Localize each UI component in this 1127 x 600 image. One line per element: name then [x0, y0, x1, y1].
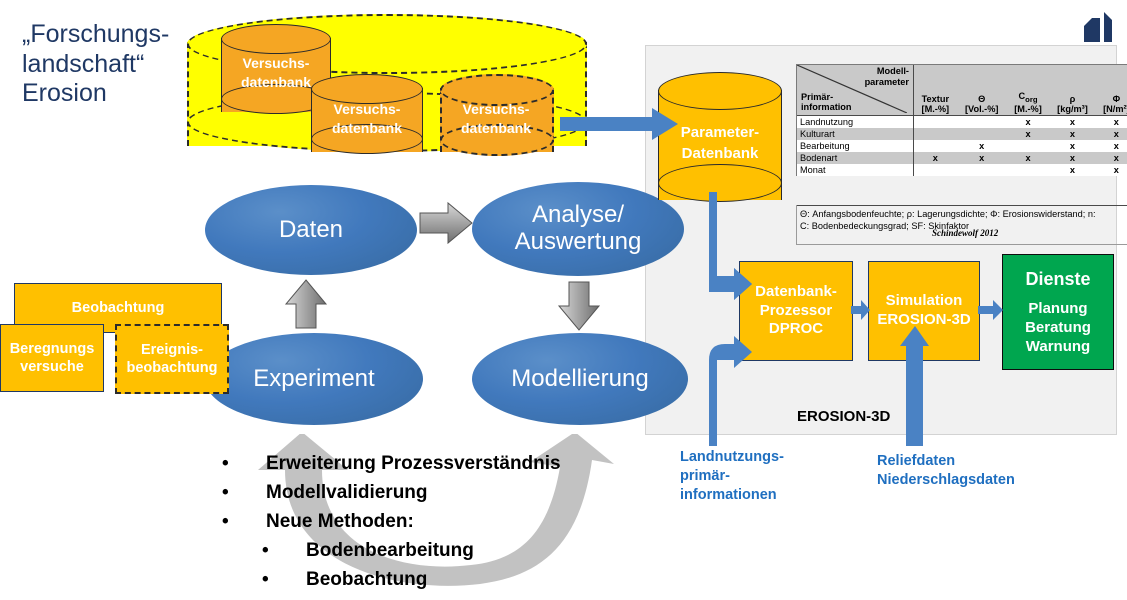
cell-landnutzung-phi: x [1096, 116, 1127, 129]
bullet-marker: • [284, 566, 306, 595]
cell-monat-rho: x [1049, 164, 1095, 176]
arrow-landnutzung-to-dproc [700, 316, 760, 446]
bullet-item: •Neue Methoden: [232, 508, 652, 537]
bullet-list: •Erweiterung Prozessverständnis •Modellv… [232, 450, 652, 594]
dienste-line-3: Warnung [1026, 338, 1090, 357]
table-footnote-line-1: Θ: Anfangsbodenfeuchte; ρ: Lagerungsdich… [800, 208, 1127, 220]
table-bottom-border [796, 244, 1127, 245]
bullet-text: Beobachtung [306, 569, 427, 590]
cell-kulturart-textur [914, 128, 957, 140]
versuchsdatenbank-3-label: Versuchs- datenbank [440, 100, 552, 138]
bullet-marker: • [244, 450, 266, 479]
cell-kulturart-rho: x [1049, 128, 1095, 140]
table-col-rho: ρ [kg/m³] [1049, 65, 1095, 116]
cell-kulturart-phi: x [1096, 128, 1127, 140]
input-label-reliefdaten: Reliefdaten Niederschlagsdaten [877, 452, 1077, 490]
cell-landnutzung-corg: x [1007, 116, 1050, 129]
table-row: Kulturart x x x [797, 128, 1127, 140]
cycle-node-modellierung[interactable]: Modellierung [472, 333, 688, 425]
cycle-node-analyse[interactable]: Analyse/ Auswertung [472, 182, 684, 276]
cycle-node-daten-label: Daten [279, 217, 343, 244]
bullet-text: Modellvalidierung [266, 482, 428, 503]
bullet-text: Erweiterung Prozessverständnis [266, 453, 561, 474]
cell-monat-textur [914, 164, 957, 176]
table-citation: Schindewolf 2012 [932, 228, 998, 238]
cell-bodenart-corg: x [1007, 152, 1050, 164]
corner-pi-line2: information [801, 102, 852, 112]
dienste-line-1: Planung [1028, 300, 1087, 319]
table-row: Monat x x [797, 164, 1127, 176]
corner-pi-line1: Primär- [801, 92, 833, 102]
ereignisbeobachtung-line-2: beobachtung [126, 359, 217, 377]
corner-mp-line2: parameter [865, 77, 909, 87]
erosion3d-caption: EROSION-3D [797, 408, 890, 425]
modellparameter-table-grid: Modell- parameter Primär- information Te… [797, 65, 1127, 176]
cell-bearbeitung-rho: x [1049, 140, 1095, 152]
versuchsdatenbank-3-label-line-2: datenbank [440, 119, 552, 138]
table-row: Bodenart x x x x x [797, 152, 1127, 164]
analyse-label-line-1: Analyse/ [532, 201, 624, 228]
cell-landnutzung-theta [957, 116, 1007, 129]
cell-landnutzung-rho: x [1049, 116, 1095, 129]
institute-logo [1082, 8, 1120, 44]
versuchsdatenbank-2-label: Versuchs- datenbank [311, 100, 423, 138]
row-label-bodenart: Bodenart [797, 152, 914, 164]
institute-logo-icon [1082, 8, 1120, 44]
cycle-node-modellierung-label: Modellierung [511, 366, 648, 393]
table-corner-primaerinformation: Primär- information [801, 92, 852, 113]
table-col-phi: Φ [N/m²] [1096, 65, 1127, 116]
arrow-daten-to-analyse [418, 200, 474, 246]
table-header-row: Modell- parameter Primär- information Te… [797, 65, 1127, 116]
bullet-item: •Beobachtung [232, 566, 652, 595]
arrow-analyse-to-modellierung [556, 280, 602, 332]
cell-bearbeitung-theta: x [957, 140, 1007, 152]
versuchsdatenbank-3[interactable]: Versuchs- datenbank [440, 74, 552, 166]
input-label-landnutzung: Landnutzungs- primär- informationen [680, 448, 820, 505]
col-rho-unit: [kg/m³] [1052, 104, 1092, 114]
beregnungsversuche-line-1: Beregnungs [10, 340, 95, 358]
versuchsdatenbank-1-top [221, 24, 331, 54]
col-textur-unit: [M.-%] [917, 104, 954, 114]
cell-bodenart-textur: x [914, 152, 957, 164]
table-col-theta: Θ [Vol.-%] [957, 65, 1007, 116]
arrow-experiment-to-daten [283, 278, 329, 330]
table-col-textur: Textur [M.-%] [914, 65, 957, 116]
cell-landnutzung-textur [914, 116, 957, 129]
versuchsdatenbank-3-label-line-1: Versuchs- [440, 100, 552, 119]
reliefdaten-line-2: Niederschlagsdaten [877, 471, 1077, 490]
dproc-line-2: Prozessor [760, 302, 833, 321]
col-textur-name: Textur [917, 94, 954, 104]
dproc-line-3: DPROC [769, 320, 823, 339]
landnutzung-line-3: informationen [680, 486, 820, 505]
analyse-label-line-2: Auswertung [515, 228, 642, 255]
col-corg-unit: [M.-%] [1010, 104, 1047, 114]
bullet-marker: • [244, 479, 266, 508]
arrow-reliefdaten-to-simulation [900, 320, 930, 446]
beregnungsversuche-line-2: versuche [20, 358, 84, 376]
table-row: Landnutzung x x x [797, 116, 1127, 129]
versuchsdatenbank-2-label-line-2: datenbank [311, 119, 423, 138]
dproc-line-1: Datenbank- [755, 283, 837, 302]
cell-kulturart-corg: x [1007, 128, 1050, 140]
bullet-text: Bodenbearbeitung [306, 540, 474, 561]
arrow-versuchsdb-to-parameterdb [560, 105, 680, 145]
arrow-dproc-to-simulation [851, 298, 871, 322]
parameter-db-label-line-2: Datenbank [658, 143, 782, 164]
bullet-item: •Modellvalidierung [232, 479, 652, 508]
simulation-line-1: Simulation [886, 292, 963, 311]
cell-kulturart-theta [957, 128, 1007, 140]
table-corner-cell: Modell- parameter Primär- information [797, 65, 914, 116]
cell-monat-phi: x [1096, 164, 1127, 176]
row-label-monat: Monat [797, 164, 914, 176]
landnutzung-line-2: primär- [680, 467, 820, 486]
cell-bodenart-phi: x [1096, 152, 1127, 164]
dienste-heading: Dienste [1025, 268, 1090, 291]
versuchsdatenbank-2[interactable]: Versuchs- datenbank [311, 74, 423, 166]
bullet-item: •Bodenbearbeitung [232, 537, 652, 566]
row-label-landnutzung: Landnutzung [797, 116, 914, 129]
arrow-parameterdb-to-dproc [700, 192, 760, 312]
experiment-box-beregnungsversuche[interactable]: Beregnungs versuche [0, 324, 104, 392]
experiment-box-ereignisbeobachtung[interactable]: Ereignis- beobachtung [115, 324, 229, 394]
cell-monat-corg [1007, 164, 1050, 176]
versuchsdatenbank-1-label-line-1: Versuchs- [221, 54, 331, 73]
col-phi-name: Φ [1099, 94, 1127, 104]
cell-bodenart-theta: x [957, 152, 1007, 164]
table-note-divider [796, 205, 1127, 206]
cycle-node-daten[interactable]: Daten [205, 185, 417, 275]
col-phi-unit: [N/m²] [1099, 104, 1127, 114]
bullet-marker: • [244, 508, 266, 537]
experiment-box-beobachtung-label: Beobachtung [72, 299, 165, 317]
cell-bearbeitung-corg [1007, 140, 1050, 152]
reliefdaten-line-1: Reliefdaten [877, 452, 1077, 471]
cycle-node-experiment[interactable]: Experiment [205, 333, 423, 425]
col-rho-name: ρ [1052, 94, 1092, 104]
table-corner-modellparameter: Modell- parameter [865, 66, 909, 87]
corner-mp-line1: Modell- [877, 66, 909, 76]
modellparameter-table: Modell- parameter Primär- information Te… [796, 64, 1127, 176]
cycle-node-analyse-label: Analyse/ Auswertung [515, 202, 642, 256]
col-corg-name: Corg [1010, 91, 1047, 104]
erosion-box-dienste[interactable]: Dienste Planung Beratung Warnung [1002, 254, 1114, 370]
arrow-simulation-to-dienste [978, 298, 1004, 322]
cell-bearbeitung-textur [914, 140, 957, 152]
dienste-line-2: Beratung [1025, 319, 1091, 338]
table-col-corg: Corg [M.-%] [1007, 65, 1050, 116]
row-label-bearbeitung: Bearbeitung [797, 140, 914, 152]
landnutzung-line-1: Landnutzungs- [680, 448, 820, 467]
versuchsdatenbank-2-label-line-1: Versuchs- [311, 100, 423, 119]
col-corg-subscript: org [1025, 95, 1037, 104]
cell-bearbeitung-phi: x [1096, 140, 1127, 152]
col-theta-name: Θ [960, 94, 1004, 104]
cell-monat-theta [957, 164, 1007, 176]
ereignisbeobachtung-line-1: Ereignis- [141, 341, 203, 359]
bullet-text: Neue Methoden: [266, 511, 414, 532]
table-left-border [796, 205, 797, 245]
bullet-marker: • [284, 537, 306, 566]
cell-bodenart-rho: x [1049, 152, 1095, 164]
table-row: Bearbeitung x x x [797, 140, 1127, 152]
col-theta-unit: [Vol.-%] [960, 104, 1004, 114]
bullet-item: •Erweiterung Prozessverständnis [232, 450, 652, 479]
row-label-kulturart: Kulturart [797, 128, 914, 140]
cycle-node-experiment-label: Experiment [253, 366, 374, 393]
